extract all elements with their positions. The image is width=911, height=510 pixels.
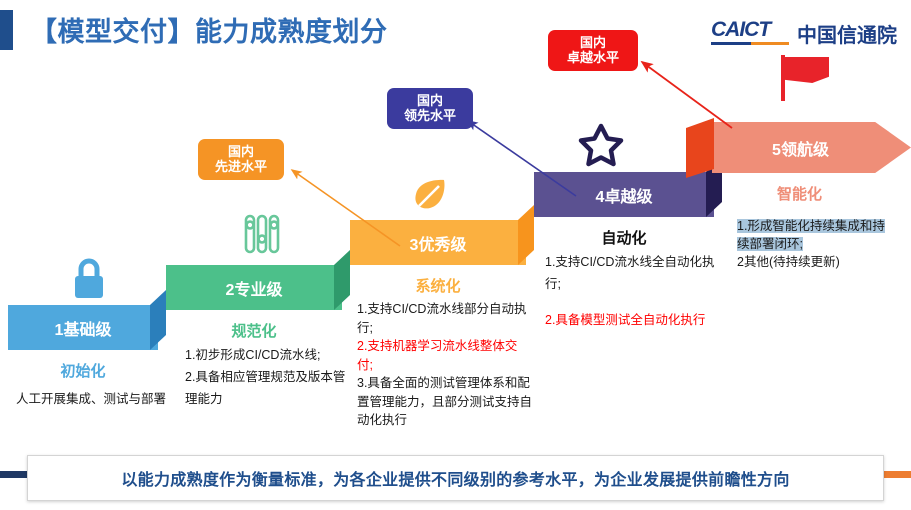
sliders-icon	[240, 212, 284, 258]
step-3-bar: 3优秀级	[350, 220, 526, 265]
step-2-side	[334, 250, 350, 310]
callout-advanced-level: 国内 先进水平	[198, 139, 284, 180]
summary-banner: 以能力成熟度作为衡量标准，为各企业提供不同级别的参考水平，为企业发展提供前瞻性方…	[27, 455, 884, 501]
step-2-body: 1.初步形成CI/CD流水线; 2.具备相应管理规范及版本管理能力	[185, 345, 355, 411]
callout-excellent-level: 国内 卓越水平	[548, 30, 638, 71]
step-5-body: 1.形成智能化持续集成和持续部署闭环; 2其他(待持续更新)	[737, 218, 897, 271]
lock-icon	[68, 255, 110, 303]
title-accent-bar	[0, 10, 13, 50]
step-4-body: 1.支持CI/CD流水线全自动化执行; 2.具备模型测试全自动化执行	[545, 252, 717, 332]
step-5-subtitle: 智能化	[712, 183, 887, 204]
step-3-side	[518, 205, 534, 265]
step-3-body: 1.支持CI/CD流水线部分自动执行; 2.支持机器学习流水线整体交付; 3.具…	[357, 300, 533, 430]
leaf-icon	[408, 172, 452, 216]
step-4-bar: 4卓越级	[534, 172, 714, 217]
step-4-label: 4卓越级	[596, 183, 653, 207]
logo-underline-orange	[751, 42, 789, 45]
logo-underline-blue	[711, 42, 751, 45]
step-1-bar: 1基础级	[8, 305, 158, 350]
step-1-body: 人工开展集成、测试与部署	[16, 390, 166, 408]
summary-banner-text: 以能力成熟度作为衡量标准，为各企业提供不同级别的参考水平，为企业发展提供前瞻性方…	[121, 466, 789, 490]
step-2-subtitle: 规范化	[166, 320, 342, 341]
caict-logo: CAICT 中国信通院	[705, 18, 905, 52]
step-3-label: 3优秀级	[410, 231, 467, 255]
step-1-subtitle: 初始化	[8, 360, 158, 381]
step-5-body-line-2: 2其他(待持续更新)	[737, 254, 897, 272]
step-3-subtitle: 系统化	[350, 275, 526, 296]
step-1-side	[150, 290, 166, 350]
flag-cloth	[785, 57, 829, 83]
step-5-body-line-1: 1.形成智能化持续集成和持续部署闭环;	[737, 218, 897, 254]
flag-pole	[781, 55, 785, 101]
step-2-bar: 2专业级	[166, 265, 342, 310]
step-4-body-line-2: 2.具备模型测试全自动化执行	[545, 310, 717, 332]
step-5-side	[686, 118, 714, 178]
slide-canvas: 【模型交付】能力成熟度划分 CAICT 中国信通院 国内 先进水平 国内 领先水…	[0, 0, 911, 510]
step-1-label: 1基础级	[55, 316, 112, 340]
step-3-body-line-2: 2.支持机器学习流水线整体交付;	[357, 337, 533, 374]
caict-logo-name: 中国信通院	[797, 19, 897, 48]
step-2-label: 2专业级	[226, 276, 283, 300]
flag-icon	[781, 55, 841, 101]
step-4-body-line-1: 1.支持CI/CD流水线全自动化执行;	[545, 252, 717, 296]
step-4-subtitle: 自动化	[534, 227, 714, 248]
caict-logo-mark: CAICT	[711, 18, 770, 42]
step-5-bar: 5领航级	[712, 122, 911, 173]
step-5-label: 5领航级	[772, 136, 829, 160]
page-title: 【模型交付】能力成熟度划分	[30, 10, 388, 49]
step-3-body-line-1: 1.支持CI/CD流水线部分自动执行;	[357, 300, 533, 337]
step-3-body-line-3: 3.具备全面的测试管理体系和配置管理能力，且部分测试支持自动化执行	[357, 374, 533, 430]
callout-leading-level: 国内 领先水平	[387, 88, 473, 129]
star-icon	[578, 122, 624, 168]
